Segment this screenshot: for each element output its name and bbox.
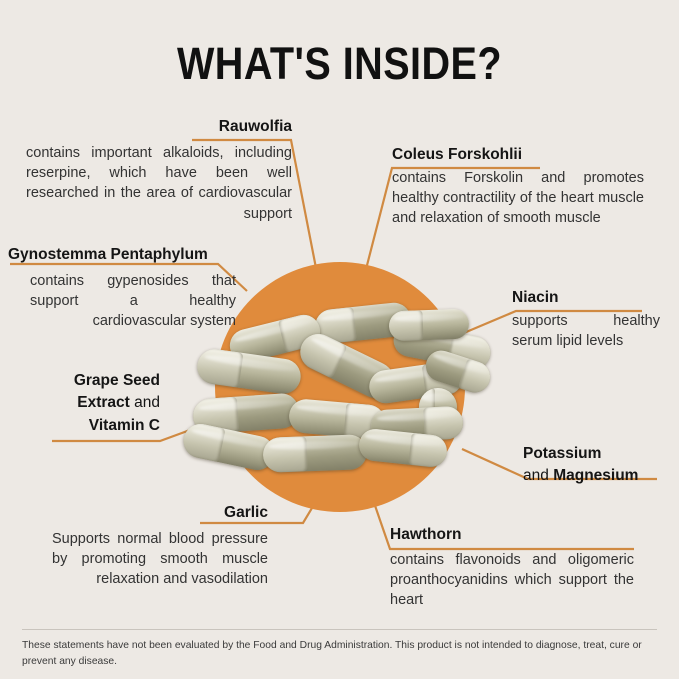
- callout-body-garlic: Supports normal blood pressure by promot…: [52, 529, 268, 590]
- magnesium-label: Magnesium: [553, 467, 638, 484]
- callout-coleus: Coleus Forskohlii contains Forskolin and…: [392, 146, 644, 229]
- callout-rauwolfia: Rauwolfia contains important alkaloids, …: [26, 118, 292, 224]
- callout-potassium-magnesium: Potassium and Magnesium: [523, 443, 659, 488]
- fda-disclaimer: These statements have not been evaluated…: [22, 638, 660, 670]
- callout-heading-potassium-magnesium: Potassium and Magnesium: [523, 443, 659, 488]
- callout-body-niacin: supports healthy serum lipid levels: [512, 311, 660, 352]
- grape-seed-line2: Extract: [77, 394, 130, 411]
- callout-heading-coleus: Coleus Forskohlii: [392, 146, 644, 164]
- callout-heading-hawthorn: Hawthorn: [390, 526, 634, 544]
- callout-body-rauwolfia: contains important alkaloids, including …: [26, 143, 292, 224]
- grape-seed-conjunction: and: [134, 394, 160, 411]
- capsule-pile: [193, 304, 487, 476]
- grape-seed-line1: Grape Seed: [74, 372, 160, 389]
- callout-body-hawthorn: contains flavonoids and oligomeric proan…: [390, 550, 634, 611]
- page-title: WHAT'S INSIDE?: [41, 38, 639, 90]
- potassium-conjunction: and: [523, 467, 549, 484]
- callout-heading-niacin: Niacin: [512, 289, 660, 307]
- callout-heading-grape-seed: Grape Seed Extract and Vitamin C: [38, 370, 160, 437]
- callout-grape-seed: Grape Seed Extract and Vitamin C: [38, 370, 160, 437]
- callout-niacin: Niacin supports healthy serum lipid leve…: [512, 289, 660, 351]
- callout-heading-rauwolfia: Rauwolfia: [26, 118, 292, 136]
- callout-heading-gynostemma: Gynostemma Pentaphylum: [8, 246, 236, 264]
- callout-hawthorn: Hawthorn contains flavonoids and oligome…: [390, 526, 634, 611]
- callout-body-gynostemma: contains gypenosides that support a heal…: [30, 271, 236, 332]
- footer-divider: [22, 629, 657, 630]
- callout-body-coleus: contains Forskolin and promotes healthy …: [392, 168, 644, 229]
- callout-heading-garlic: Garlic: [52, 504, 268, 522]
- infographic-page: WHAT'S INSIDE?: [0, 0, 679, 679]
- callout-gynostemma: Gynostemma Pentaphylum contains gypenosi…: [8, 246, 236, 332]
- callout-garlic: Garlic Supports normal blood pressure by…: [52, 504, 268, 590]
- grape-seed-line3: Vitamin C: [89, 417, 160, 434]
- potassium-label: Potassium: [523, 445, 601, 462]
- center-graphic: [215, 262, 465, 512]
